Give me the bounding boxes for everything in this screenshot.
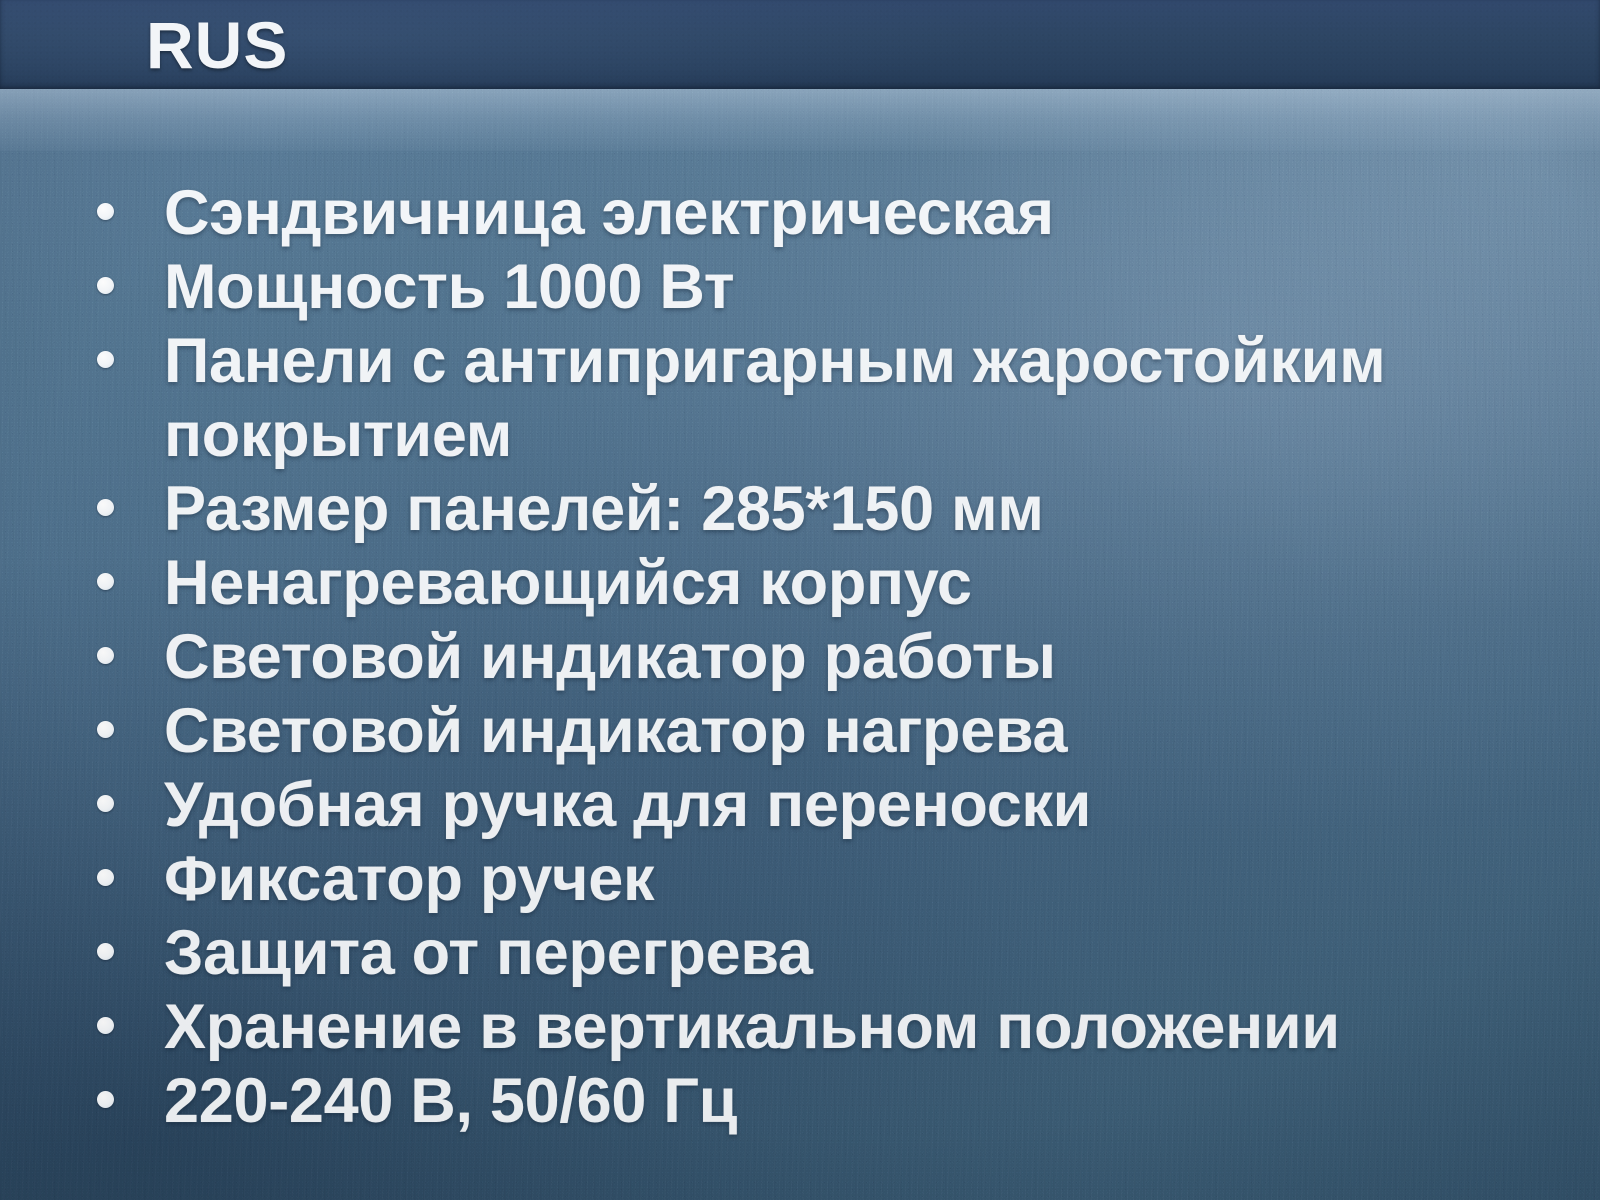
spec-list-item: Световой индикатор работы (0, 620, 1600, 694)
spec-list-item: Размер панелей: 285*150 мм (0, 472, 1600, 546)
spec-list-item: Мощность 1000 Вт (0, 250, 1600, 324)
spec-list-item: Панели с антипригарным жаростойким покры… (0, 324, 1600, 472)
spec-item-label: Панели с антипригарным жаростойким покры… (164, 324, 1600, 472)
spec-list-item: Защита от перегрева (0, 916, 1600, 990)
spec-item-label: 220-240 В, 50/60 Гц (164, 1064, 1600, 1138)
bullet-dot-icon (97, 943, 114, 960)
specification-list: Сэндвичница электрическаяМощность 1000 В… (0, 176, 1600, 1138)
bullet-dot-icon (97, 351, 114, 368)
spec-list-item: Световой индикатор нагрева (0, 694, 1600, 768)
bullet-dot-icon (97, 721, 114, 738)
bullet-dot-icon (97, 1091, 114, 1108)
bullet-dot-icon (97, 1017, 114, 1034)
bullet-dot-icon (97, 499, 114, 516)
spec-item-label: Фиксатор ручек (164, 842, 1600, 916)
language-header-band: RUS (0, 0, 1600, 89)
bullet-dot-icon (97, 795, 114, 812)
spec-item-label: Световой индикатор работы (164, 620, 1600, 694)
spec-item-label: Удобная ручка для переноски (164, 768, 1600, 842)
spec-list-item: Хранение в вертикальном положении (0, 990, 1600, 1064)
spec-item-label: Мощность 1000 Вт (164, 250, 1600, 324)
spec-item-label: Размер панелей: 285*150 мм (164, 472, 1600, 546)
bullet-dot-icon (97, 647, 114, 664)
spec-list-item: Фиксатор ручек (0, 842, 1600, 916)
spec-item-label: Сэндвичница электрическая (164, 176, 1600, 250)
spec-list-item: Сэндвичница электрическая (0, 176, 1600, 250)
spec-item-label: Ненагревающийся корпус (164, 546, 1600, 620)
spec-item-label: Хранение в вертикальном положении (164, 990, 1600, 1064)
spec-list-item: 220-240 В, 50/60 Гц (0, 1064, 1600, 1138)
bullet-dot-icon (97, 203, 114, 220)
bullet-dot-icon (97, 869, 114, 886)
product-spec-panel: RUS Сэндвичница электрическаяМощность 10… (0, 0, 1600, 1200)
spec-item-label: Световой индикатор нагрева (164, 694, 1600, 768)
spec-list-item: Ненагревающийся корпус (0, 546, 1600, 620)
language-tag-label: RUS (146, 12, 288, 78)
bullet-dot-icon (97, 573, 114, 590)
spec-list-item: Удобная ручка для переноски (0, 768, 1600, 842)
spec-item-label: Защита от перегрева (164, 916, 1600, 990)
bullet-dot-icon (97, 277, 114, 294)
